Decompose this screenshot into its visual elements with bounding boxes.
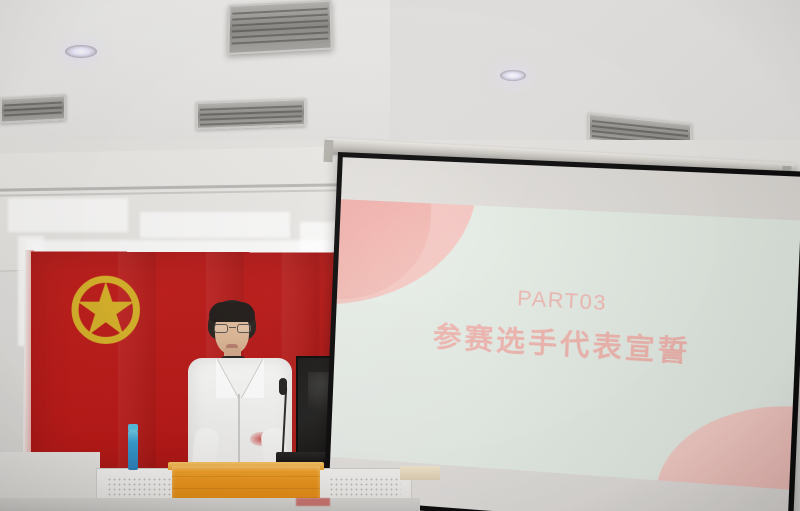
youth-league-emblem-icon [72,276,140,344]
hair-fringe [209,302,255,322]
floor-strip [0,498,420,511]
projection-screen: PART03 参赛选手代表宣誓 [323,152,800,511]
wall-tape-residue [140,212,290,238]
screen-surface: PART03 参赛选手代表宣誓 [329,157,800,511]
ceiling-air-vent [0,94,66,123]
ceiling-downlight [500,70,526,81]
ceiling-downlight [65,45,97,58]
ceiling-air-vent [227,0,332,55]
side-desk [400,466,440,480]
wall-tape-residue [8,198,128,232]
podium-red-label [296,498,330,506]
ceiling-air-vent [196,98,306,130]
glasses-icon [214,324,251,333]
microphone-icon [279,378,287,395]
presentation-slide: PART03 参赛选手代表宣誓 [330,199,800,500]
water-bottle [128,430,138,470]
photo-scene: PART03 参赛选手代表宣誓 [0,0,800,511]
roller-bracket [323,140,333,162]
